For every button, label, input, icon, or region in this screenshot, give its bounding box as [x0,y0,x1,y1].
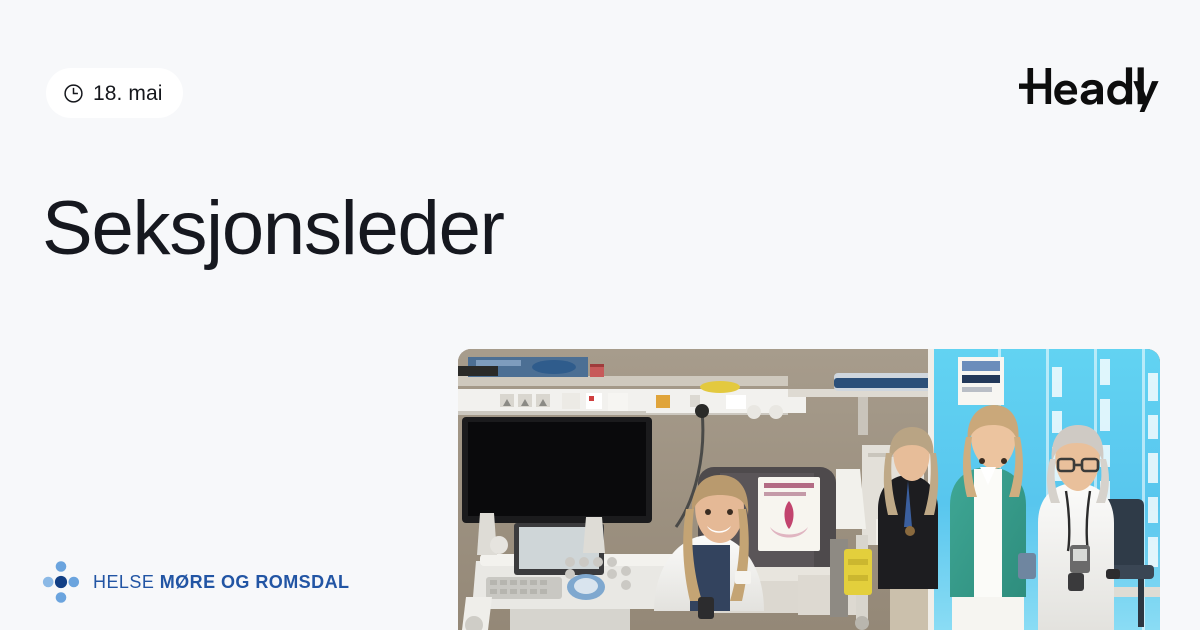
org-wordmark-bold: MØRE OG ROMSDAL [160,572,350,592]
org-wordmark-light: HELSE [93,572,154,592]
hero-image-illustration [458,349,1160,630]
org-wordmark: HELSE MØRE OG ROMSDAL [93,573,349,591]
date-label: 18. mai [93,83,163,104]
clock-icon [63,83,84,104]
org-logo: HELSE MØRE OG ROMSDAL [42,558,349,606]
helse-dot-mark-icon [42,560,80,604]
date-badge: 18. mai [46,68,183,118]
headly-logo[interactable] [1019,66,1160,112]
page-title: Seksjonsleder [42,188,742,270]
hero-image [458,349,1160,630]
page-header: 18. mai [0,0,1200,186]
headly-wordmark [1019,66,1160,112]
